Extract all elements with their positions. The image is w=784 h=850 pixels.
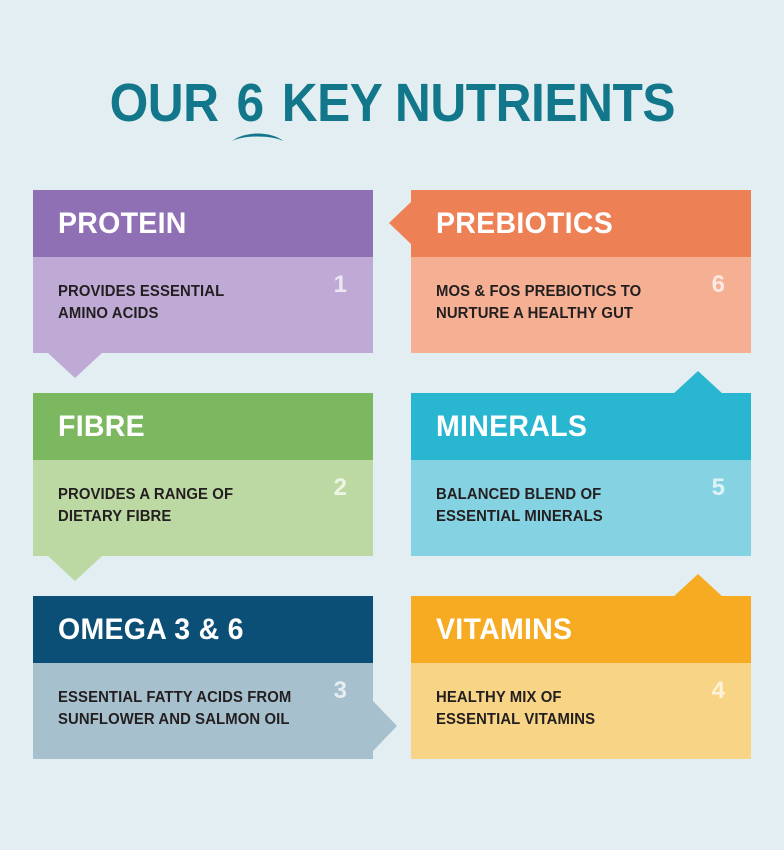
nutrient-card-fibre[interactable]: FIBRE PROVIDES A RANGE OF DIETARY FIBRE … xyxy=(33,393,373,556)
arrow-left-icon xyxy=(389,201,412,245)
card-body-fibre: PROVIDES A RANGE OF DIETARY FIBRE 2 xyxy=(33,460,373,556)
card-header-vitamins: VITAMINS xyxy=(411,596,751,663)
card-title: OMEGA 3 & 6 xyxy=(58,613,244,647)
card-number: 5 xyxy=(712,476,725,500)
card-description: HEALTHY MIX OF ESSENTIAL VITAMINS xyxy=(436,687,714,731)
card-number: 4 xyxy=(712,679,725,703)
card-title: PREBIOTICS xyxy=(436,207,613,241)
card-description: ESSENTIAL FATTY ACIDS FROM SUNFLOWER AND… xyxy=(58,687,336,731)
arrow-down-icon xyxy=(48,556,102,581)
arrow-down-icon xyxy=(48,353,102,378)
card-body-vitamins: HEALTHY MIX OF ESSENTIAL VITAMINS 4 xyxy=(411,663,751,759)
card-description: PROVIDES A RANGE OF DIETARY FIBRE xyxy=(58,484,336,528)
nutrient-card-prebiotics[interactable]: PREBIOTICS MOS & FOS PREBIOTICS TO NURTU… xyxy=(411,190,751,353)
card-header-fibre: FIBRE xyxy=(33,393,373,460)
card-header-minerals: MINERALS xyxy=(411,393,751,460)
card-title: FIBRE xyxy=(58,410,145,444)
card-title: VITAMINS xyxy=(436,613,572,647)
nutrient-card-vitamins[interactable]: VITAMINS HEALTHY MIX OF ESSENTIAL VITAMI… xyxy=(411,596,751,759)
card-header-protein: PROTEIN xyxy=(33,190,373,257)
infographic-page: OUR 6 KEY NUTRIENTS PROTEIN PROVIDES ESS… xyxy=(0,0,784,850)
nutrient-card-minerals[interactable]: MINERALS BALANCED BLEND OF ESSENTIAL MIN… xyxy=(411,393,751,556)
card-body-omega: ESSENTIAL FATTY ACIDS FROM SUNFLOWER AND… xyxy=(33,663,373,759)
card-header-omega: OMEGA 3 & 6 xyxy=(33,596,373,663)
card-title: MINERALS xyxy=(436,410,587,444)
nutrient-card-omega-3-and-6[interactable]: OMEGA 3 & 6 ESSENTIAL FATTY ACIDS FROM S… xyxy=(33,596,373,759)
card-description: BALANCED BLEND OF ESSENTIAL MINERALS xyxy=(436,484,714,528)
card-number: 1 xyxy=(334,273,347,297)
nutrient-card-grid: PROTEIN PROVIDES ESSENTIAL AMINO ACIDS 1… xyxy=(0,0,784,850)
card-body-prebiotics: MOS & FOS PREBIOTICS TO NURTURE A HEALTH… xyxy=(411,257,751,353)
arrow-up-icon xyxy=(672,371,724,395)
card-description: MOS & FOS PREBIOTICS TO NURTURE A HEALTH… xyxy=(436,281,714,325)
arrow-right-icon xyxy=(373,701,397,751)
card-description: PROVIDES ESSENTIAL AMINO ACIDS xyxy=(58,281,336,325)
card-number: 3 xyxy=(334,679,347,703)
card-number: 2 xyxy=(334,476,347,500)
card-number: 6 xyxy=(712,273,725,297)
arrow-up-icon xyxy=(672,574,724,598)
card-body-minerals: BALANCED BLEND OF ESSENTIAL MINERALS 5 xyxy=(411,460,751,556)
card-body-protein: PROVIDES ESSENTIAL AMINO ACIDS 1 xyxy=(33,257,373,353)
card-header-prebiotics: PREBIOTICS xyxy=(411,190,751,257)
card-title: PROTEIN xyxy=(58,207,187,241)
nutrient-card-protein[interactable]: PROTEIN PROVIDES ESSENTIAL AMINO ACIDS 1 xyxy=(33,190,373,353)
